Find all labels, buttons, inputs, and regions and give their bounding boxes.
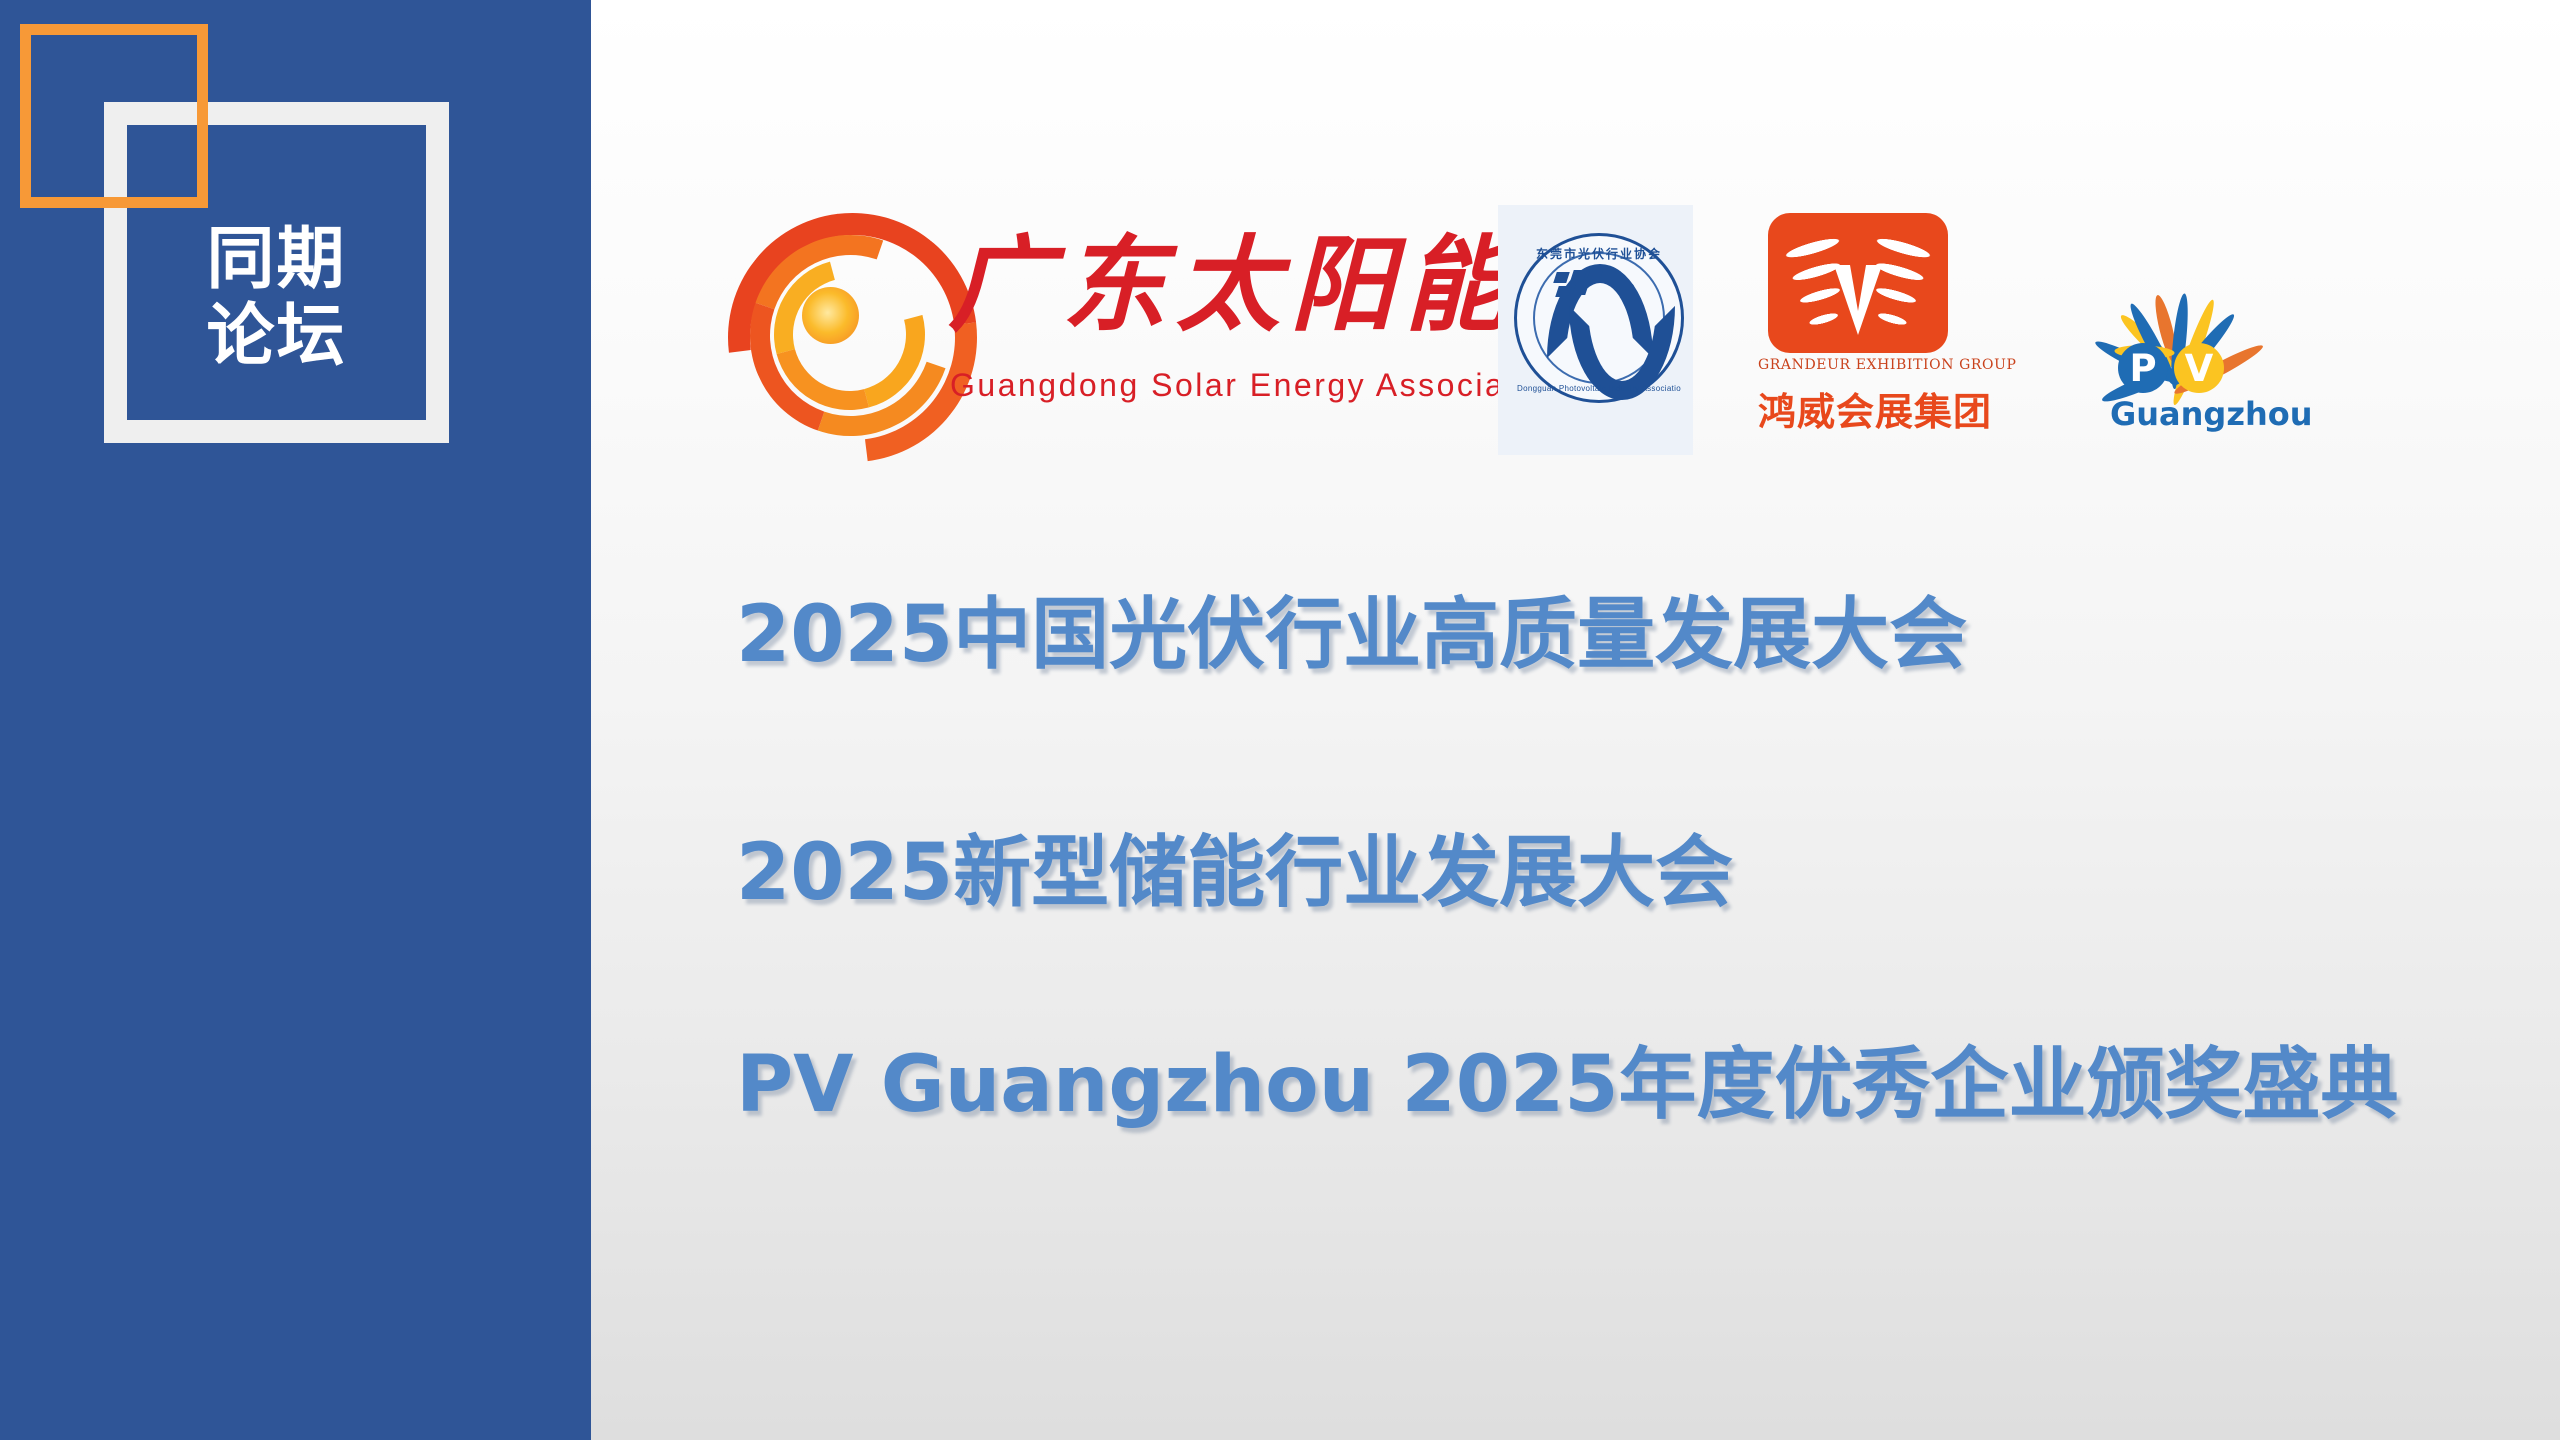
circular-seal-icon: 东莞市光伏行业协会 Dongguan Photovoltaic Industry… <box>1514 233 1684 403</box>
logo-grandeur-english-name: GRANDEUR EXHIBITION GROUP <box>1758 357 1958 373</box>
seal-chinese-ring-text: 东莞市光伏行业协会 <box>1517 245 1681 262</box>
seal-english-ring-text: Dongguan Photovoltaic Industry Associati… <box>1517 384 1681 393</box>
spiral-sun-icon <box>728 213 933 418</box>
logo-gdsea-chinese-name: 广东太阳能 <box>948 223 1448 358</box>
pv-letter-p: P <box>2118 343 2168 393</box>
partner-logo-strip: 广东太阳能 Guangdong Solar Energy Association <box>728 205 2388 455</box>
sidebar-title-line-1: 同期 <box>206 222 346 298</box>
event-headline-2: 2025新型储能行业发展大会 <box>736 833 1733 915</box>
logo-dongguan-photovoltaic-industry-association: 东莞市光伏行业协会 Dongguan Photovoltaic Industry… <box>1498 205 1693 455</box>
presentation-slide: 同期 论坛 广东太阳能 Guangdong Solar Energy Assoc… <box>0 0 2560 1440</box>
logo-guangdong-solar-energy-association: 广东太阳能 Guangdong Solar Energy Association <box>728 205 1448 455</box>
pv-monogram: P V <box>2116 343 2234 397</box>
logo-grandeur-exhibition-group: GRANDEUR EXHIBITION GROUP 鸿威会展集团 <box>1758 205 1958 455</box>
stylized-e-glyph <box>1541 260 1653 372</box>
pv-guangzhou-wordmark: Guangzhou <box>2110 395 2280 433</box>
event-headline-3: PV Guangzhou 2025年度优秀企业颁奖盛典 <box>736 1045 2399 1127</box>
sidebar-panel: 同期 论坛 <box>0 0 591 1440</box>
wings-badge-icon <box>1768 213 1948 353</box>
sidebar-title-block: 同期 论坛 <box>104 102 449 443</box>
sidebar-title-line-2: 论坛 <box>206 299 346 375</box>
logo-grandeur-chinese-name: 鸿威会展集团 <box>1758 381 1958 436</box>
main-content-panel: 广东太阳能 Guangdong Solar Energy Association <box>591 0 2560 1440</box>
event-headline-1: 2025中国光伏行业高质量发展大会 <box>736 595 1967 677</box>
logo-gdsea-english-name: Guangdong Solar Energy Association <box>950 367 1567 404</box>
pv-letter-v: V <box>2174 343 2224 393</box>
logo-pv-guangzhou: P V Guangzhou <box>2048 205 2308 455</box>
